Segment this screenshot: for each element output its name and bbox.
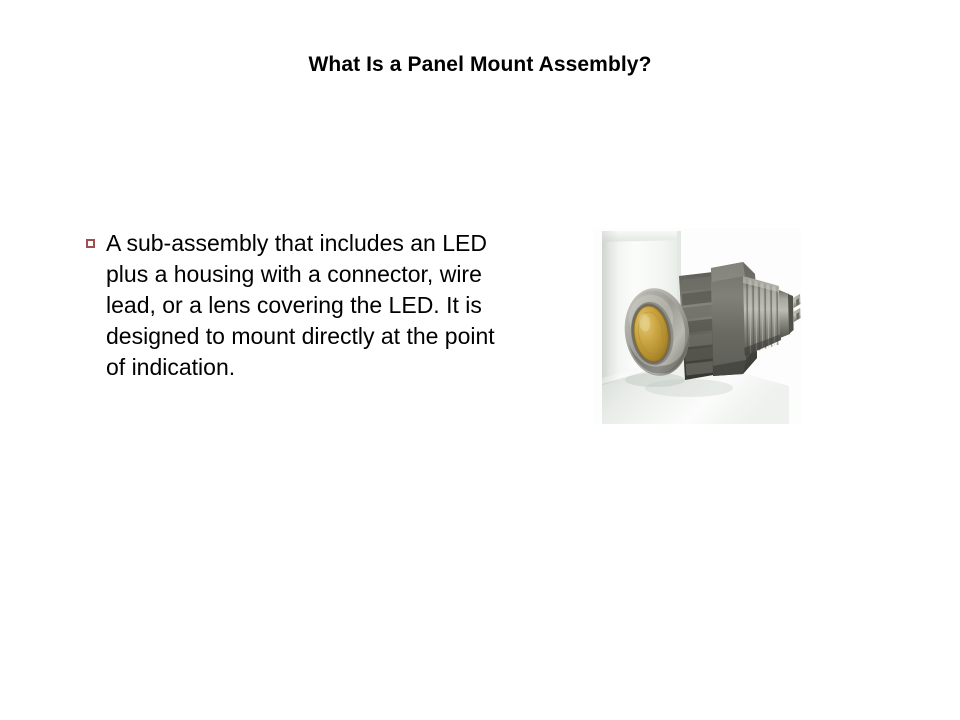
body-content: A sub-assembly that includes an LED plus…	[86, 228, 516, 383]
list-item: A sub-assembly that includes an LED plus…	[86, 228, 516, 383]
panel-mount-led-indicator-photo	[593, 228, 801, 424]
hollow-square-bullet-icon	[86, 239, 95, 248]
list-item-label: A sub-assembly that includes an LED plus…	[106, 228, 516, 383]
page-title: What Is a Panel Mount Assembly?	[0, 52, 960, 78]
slide-canvas: What Is a Panel Mount Assembly? A sub-as…	[0, 0, 960, 720]
panel-mount-led-indicator-illustration	[593, 228, 801, 424]
